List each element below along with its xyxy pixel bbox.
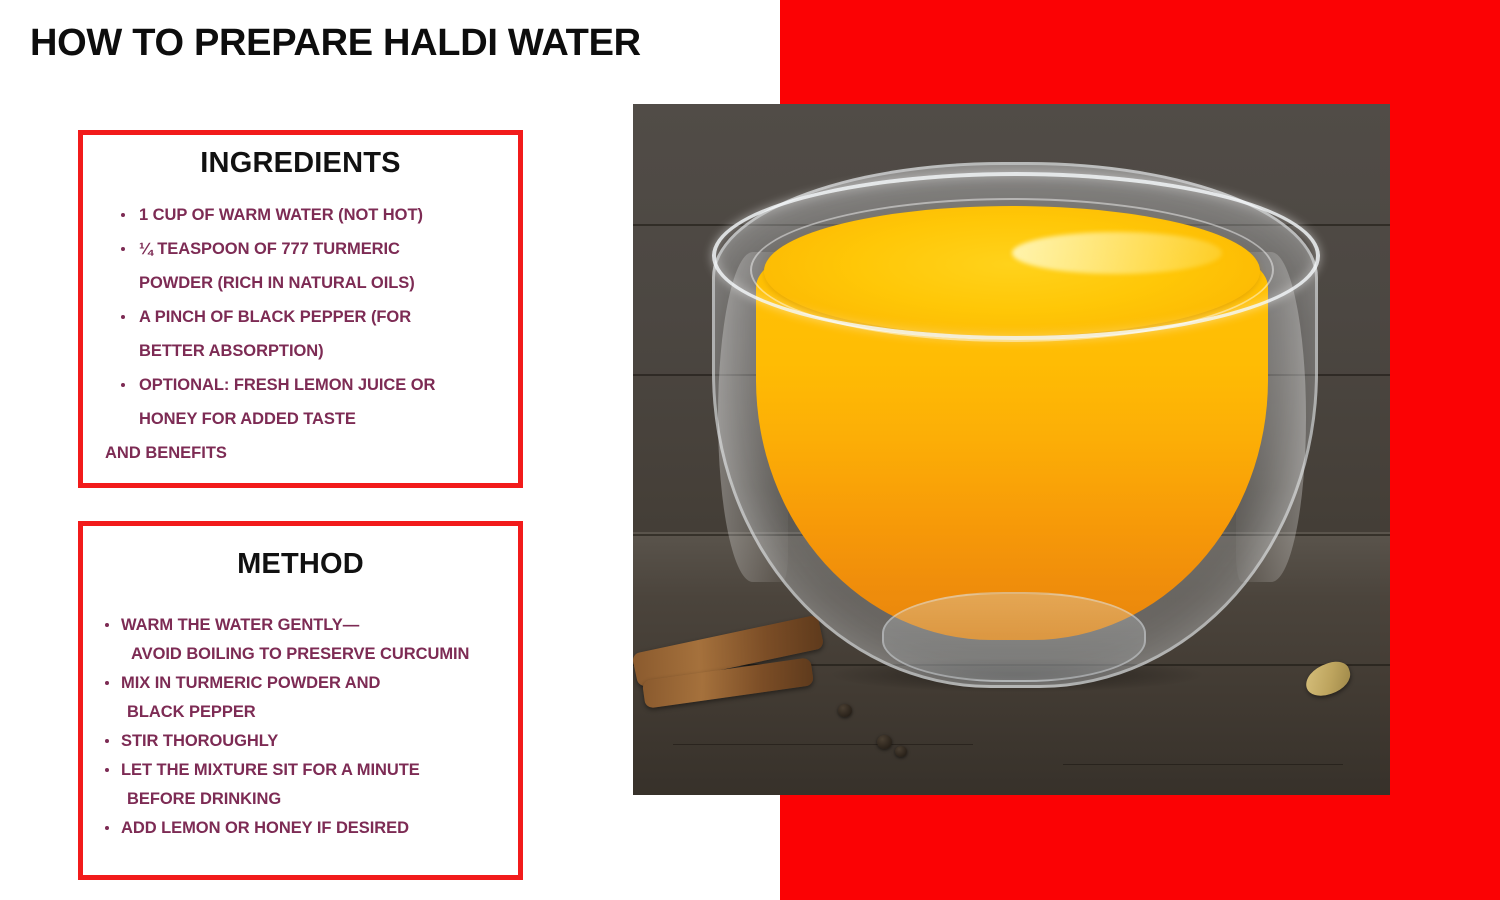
method-card: METHOD WARM THE WATER GENTLY— AVOID BOIL… (78, 521, 523, 880)
list-item: ¼ TEASPOON OF 777 TURMERIC POWDER (RICH … (117, 232, 510, 300)
ingredients-heading: INGREDIENTS (83, 147, 518, 180)
list-item: A PINCH OF BLACK PEPPER (FOR BETTER ABSO… (117, 300, 510, 368)
ingredient-line-1: ¼ TEASPOON OF 777 TURMERIC (139, 240, 400, 258)
method-line-2: AVOID BOILING TO PRESERVE CURCUMIN (121, 640, 510, 669)
method-line-1: LET THE MIXTURE SIT FOR A MINUTE (121, 761, 420, 779)
peppercorn (838, 704, 852, 717)
list-item: MIX IN TURMERIC POWDER AND BLACK PEPPER (101, 669, 510, 727)
glass-base (882, 592, 1146, 682)
method-line-2: BLACK PEPPER (121, 698, 510, 727)
ingredient-line-1: A PINCH OF BLACK PEPPER (FOR (139, 308, 411, 326)
glass-rim-inner (750, 198, 1274, 342)
list-item: STIR THOROUGHLY (101, 727, 510, 756)
peppercorn (895, 746, 907, 757)
ingredients-trailing-line: AND BENEFITS (83, 436, 518, 470)
ingredient-line-2: BETTER ABSORPTION) (139, 334, 510, 368)
page-title: HOW TO PREPARE HALDI WATER (30, 22, 641, 65)
method-list: WARM THE WATER GENTLY— AVOID BOILING TO … (83, 611, 518, 843)
method-line-1: WARM THE WATER GENTLY— (121, 616, 359, 634)
list-item: WARM THE WATER GENTLY— AVOID BOILING TO … (101, 611, 510, 669)
method-line-1: MIX IN TURMERIC POWDER AND (121, 674, 380, 692)
method-line-2: BEFORE DRINKING (121, 785, 510, 814)
ingredients-card: INGREDIENTS 1 CUP OF WARM WATER (NOT HOT… (78, 130, 523, 488)
list-item: LET THE MIXTURE SIT FOR A MINUTE BEFORE … (101, 756, 510, 814)
infographic-canvas: HOW TO PREPARE HALDI WATER INGREDIENTS 1… (0, 0, 1500, 900)
ingredients-list: 1 CUP OF WARM WATER (NOT HOT) ¼ TEASPOON… (83, 198, 518, 436)
list-item: 1 CUP OF WARM WATER (NOT HOT) (117, 198, 510, 232)
ingredient-line-1: OPTIONAL: FRESH LEMON JUICE OR (139, 376, 435, 394)
glass-cup (712, 162, 1312, 682)
method-line-1: ADD LEMON OR HONEY IF DESIRED (121, 819, 409, 837)
ingredient-line-1: 1 CUP OF WARM WATER (NOT HOT) (139, 206, 423, 224)
list-item: ADD LEMON OR HONEY IF DESIRED (101, 814, 510, 843)
haldi-water-photo (633, 104, 1390, 795)
method-heading: METHOD (83, 548, 518, 581)
ingredient-line-2: POWDER (RICH IN NATURAL OILS) (139, 266, 510, 300)
peppercorn (877, 735, 892, 749)
ingredient-line-2: HONEY FOR ADDED TASTE (139, 402, 510, 436)
method-line-1: STIR THOROUGHLY (121, 732, 278, 750)
list-item: OPTIONAL: FRESH LEMON JUICE OR HONEY FOR… (117, 368, 510, 436)
